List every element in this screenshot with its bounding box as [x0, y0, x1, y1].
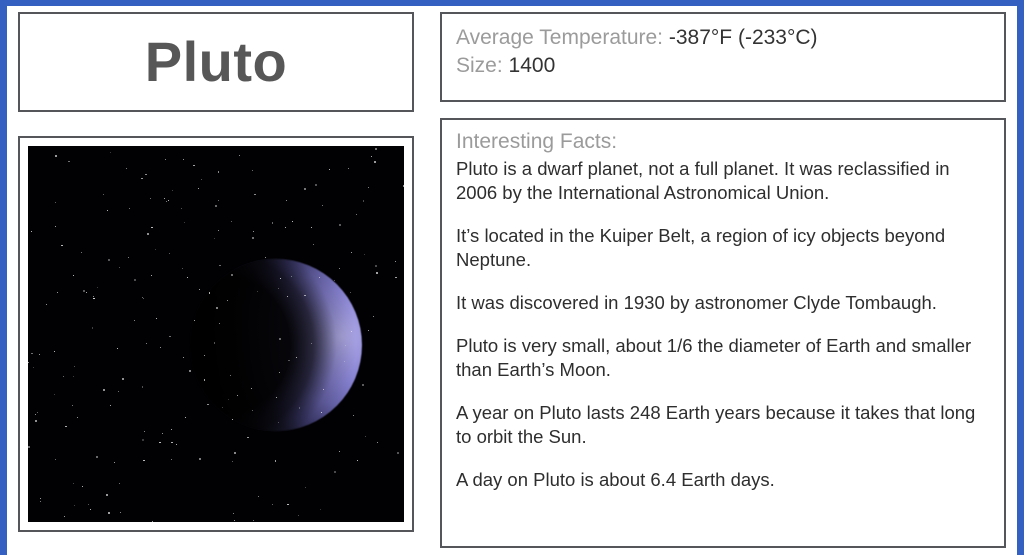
star [198, 188, 199, 189]
star [118, 391, 119, 392]
temperature-label: Average Temperature: [456, 26, 663, 49]
star [215, 205, 217, 207]
star [339, 268, 340, 269]
star [128, 257, 129, 258]
star [375, 265, 377, 267]
star [373, 316, 374, 317]
planet-title-card: Pluto [18, 12, 414, 112]
temperature-value: -387°F (-233°C) [669, 26, 818, 49]
fact-item: A year on Pluto lasts 248 Earth years be… [456, 401, 990, 449]
star [107, 210, 108, 211]
star [320, 509, 321, 510]
star [305, 487, 306, 488]
fact-item: It’s located in the Kuiper Belt, a regio… [456, 224, 990, 272]
star [156, 318, 157, 319]
star [35, 414, 36, 415]
page-inner: Pluto Average Temperature: -387°F (-233°… [7, 6, 1017, 555]
star [82, 486, 83, 487]
star [171, 459, 172, 460]
star [219, 265, 220, 266]
star [199, 289, 200, 290]
size-value: 1400 [509, 54, 556, 77]
star [403, 185, 404, 187]
star [376, 272, 378, 274]
star [275, 460, 276, 461]
star [252, 170, 253, 171]
star [322, 205, 323, 206]
star [142, 439, 144, 441]
star [362, 384, 364, 386]
star [142, 386, 143, 387]
star [395, 277, 396, 278]
star [239, 155, 240, 156]
star [368, 187, 369, 188]
star [298, 515, 299, 516]
star [114, 462, 115, 463]
star [375, 148, 377, 150]
star [37, 412, 38, 413]
star [319, 277, 320, 278]
star [258, 496, 259, 497]
star [201, 179, 202, 180]
star [64, 516, 65, 517]
star [234, 452, 236, 454]
star [187, 277, 188, 278]
left-column: Pluto [18, 12, 414, 552]
star [55, 459, 56, 460]
size-label: Size: [456, 54, 503, 77]
star [122, 378, 124, 380]
interesting-facts-card: Interesting Facts: Pluto is a dwarf plan… [440, 118, 1006, 548]
star [65, 426, 66, 427]
star [57, 292, 58, 293]
star [61, 245, 62, 246]
star [159, 442, 160, 443]
star [74, 366, 75, 367]
star [73, 483, 74, 484]
star [222, 407, 223, 408]
planet-image [28, 146, 404, 522]
star [68, 161, 69, 162]
star [272, 504, 273, 505]
star [126, 168, 127, 169]
star [54, 351, 55, 352]
page-frame: Pluto Average Temperature: -387°F (-233°… [0, 0, 1024, 555]
star [285, 227, 286, 228]
star [357, 460, 358, 461]
star [181, 208, 182, 209]
star [252, 410, 253, 411]
star [329, 169, 330, 170]
star [55, 226, 56, 227]
planet-image-card [18, 136, 414, 532]
star [134, 320, 135, 321]
star [39, 354, 40, 355]
star [265, 257, 266, 258]
star [230, 375, 231, 376]
star [233, 513, 234, 514]
star [299, 407, 300, 408]
star [193, 165, 194, 166]
star [166, 201, 167, 202]
star [33, 367, 34, 368]
star [183, 357, 184, 358]
star [182, 268, 183, 269]
star [218, 171, 219, 172]
star [120, 512, 121, 513]
star [108, 259, 110, 261]
star [129, 208, 130, 209]
star [348, 168, 349, 169]
star [315, 184, 317, 186]
star [28, 446, 30, 448]
star [103, 194, 104, 195]
star [147, 233, 149, 235]
star [168, 200, 169, 201]
star [185, 417, 186, 418]
star [279, 372, 280, 373]
star [151, 275, 152, 276]
facts-heading: Interesting Facts: [456, 129, 990, 155]
star [374, 161, 376, 163]
star [339, 451, 340, 452]
star [151, 227, 152, 228]
star [218, 200, 219, 201]
star [395, 261, 396, 262]
star [74, 505, 75, 506]
star [119, 483, 120, 484]
star [287, 504, 288, 505]
star [231, 221, 232, 222]
star [184, 222, 185, 223]
star [150, 198, 151, 199]
fact-item: Pluto is a dwarf planet, not a full plan… [456, 157, 990, 205]
star [365, 436, 366, 437]
star [254, 194, 255, 195]
facts-list: Pluto is a dwarf planet, not a full plan… [456, 157, 990, 492]
planet-stats-card: Average Temperature: -387°F (-233°C) Siz… [440, 12, 1006, 102]
star [377, 442, 378, 443]
star [28, 362, 29, 363]
star [286, 200, 287, 201]
star [88, 504, 89, 505]
star [189, 370, 191, 372]
star [334, 471, 336, 473]
star [234, 520, 235, 521]
right-column: Average Temperature: -387°F (-233°C) Siz… [440, 12, 1006, 552]
planet-shadow [190, 259, 362, 431]
star [134, 279, 136, 281]
star [247, 437, 248, 438]
star [194, 320, 195, 321]
star [72, 405, 73, 406]
star [97, 287, 98, 288]
star [35, 420, 37, 422]
star [292, 221, 293, 222]
star [117, 348, 118, 349]
star [287, 296, 288, 297]
star [55, 202, 56, 203]
size-row: Size: 1400 [456, 52, 990, 80]
star [172, 190, 173, 191]
star [304, 188, 306, 190]
star [219, 323, 220, 324]
star [93, 296, 94, 297]
star [171, 442, 172, 443]
star [86, 292, 87, 293]
star [253, 520, 254, 521]
star [92, 327, 93, 328]
star [31, 231, 32, 232]
star [176, 444, 177, 445]
star [353, 415, 354, 416]
star [162, 433, 163, 434]
star [54, 394, 55, 395]
star [40, 498, 41, 499]
star [364, 254, 365, 255]
star [232, 461, 233, 462]
star [141, 178, 142, 179]
star [108, 512, 110, 514]
star [363, 200, 364, 201]
star [351, 252, 352, 253]
star [199, 458, 201, 460]
star [339, 224, 341, 226]
star [272, 222, 273, 223]
star [209, 292, 210, 293]
star [356, 214, 357, 215]
star [397, 452, 398, 453]
star [83, 290, 84, 291]
star [165, 159, 166, 160]
star [31, 353, 32, 354]
star [63, 376, 64, 377]
star [110, 152, 111, 153]
star [160, 347, 161, 348]
star [368, 330, 369, 331]
star [214, 342, 215, 343]
star [207, 404, 208, 405]
star [90, 509, 91, 510]
star [164, 198, 165, 199]
star [106, 494, 108, 496]
star [183, 159, 184, 160]
star [204, 379, 205, 380]
star [77, 417, 78, 418]
star [40, 501, 41, 502]
star [73, 275, 74, 276]
star [252, 237, 254, 239]
star [96, 456, 98, 458]
two-column-layout: Pluto Average Temperature: -387°F (-233°… [11, 9, 1013, 555]
fact-item: It was discovered in 1930 by astronomer … [456, 291, 990, 315]
star [110, 405, 111, 406]
star [350, 292, 351, 293]
star [73, 376, 74, 377]
fact-item: A day on Pluto is about 6.4 Earth days. [456, 468, 990, 492]
star [334, 280, 335, 281]
fact-item: Pluto is very small, about 1/6 the diame… [456, 334, 990, 382]
star [169, 253, 170, 254]
star [143, 460, 144, 461]
temperature-row: Average Temperature: -387°F (-233°C) [456, 24, 990, 52]
star [143, 298, 144, 299]
star [46, 304, 47, 305]
star [103, 389, 105, 391]
star [214, 238, 215, 239]
star [169, 336, 170, 337]
star [55, 155, 57, 157]
star [311, 227, 312, 228]
star [253, 231, 254, 232]
star [280, 278, 281, 279]
star [144, 431, 145, 432]
star [171, 429, 172, 430]
star [152, 521, 153, 522]
star [155, 249, 156, 250]
star [313, 244, 314, 245]
star [145, 174, 146, 175]
star [93, 298, 94, 299]
star [146, 343, 147, 344]
star [371, 156, 372, 157]
star [232, 419, 233, 420]
star [218, 230, 219, 231]
star [81, 252, 82, 253]
page-title: Pluto [145, 34, 287, 90]
star [119, 267, 120, 268]
